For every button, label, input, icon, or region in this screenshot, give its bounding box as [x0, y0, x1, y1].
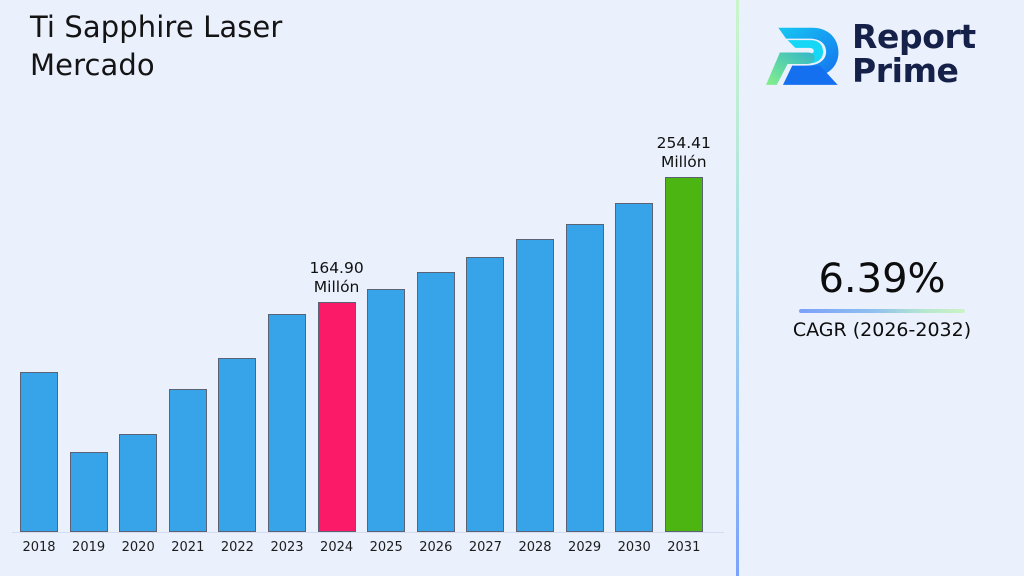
bar-group-2024[interactable]: 164.90 Millón [318, 302, 356, 532]
bar-2020[interactable] [119, 434, 157, 532]
bar-2031[interactable] [665, 177, 703, 532]
bar-2022[interactable] [218, 358, 256, 532]
screenshot-root: Ti Sapphire Laser Mercado 20182019202020… [0, 0, 1024, 576]
cagr-caption: CAGR (2026-2032) [740, 318, 1024, 342]
chart-panel: Ti Sapphire Laser Mercado 20182019202020… [0, 0, 737, 576]
bar-group-2027[interactable] [466, 257, 504, 532]
bar-2030[interactable] [615, 203, 653, 532]
x-axis-line [12, 532, 724, 533]
bar-group-2019[interactable] [70, 452, 108, 532]
side-panel: Report Prime 6.39% CAGR (2026-2032) [740, 0, 1024, 576]
bar-group-2030[interactable] [615, 203, 653, 532]
bar-group-2025[interactable] [367, 289, 405, 532]
bar-group-2031[interactable]: 254.41 Millón [665, 177, 703, 532]
bar-2026[interactable] [417, 272, 455, 532]
bar-2029[interactable] [566, 224, 604, 532]
bar-group-2029[interactable] [566, 224, 604, 532]
x-axis-tick-2031: 2031 [654, 540, 714, 556]
bar-2023[interactable] [268, 314, 306, 532]
bar-2028[interactable] [516, 239, 554, 532]
bar-chart-plot-area: 201820192020202120222023164.90 Millón202… [0, 0, 737, 576]
bar-2019[interactable] [70, 452, 108, 532]
bar-2018[interactable] [20, 372, 58, 532]
bar-group-2020[interactable] [119, 434, 157, 532]
report-prime-logo-mark [764, 17, 842, 91]
bar-value-label-2031: 254.41 Millón [628, 134, 740, 172]
logo-wordmark: Report Prime [852, 20, 976, 88]
bar-2021[interactable] [169, 389, 207, 532]
bar-2024[interactable] [318, 302, 356, 532]
bar-group-2018[interactable] [20, 372, 58, 532]
bar-2025[interactable] [367, 289, 405, 532]
bar-group-2022[interactable] [218, 358, 256, 532]
panel-divider [736, 0, 739, 576]
bar-2027[interactable] [466, 257, 504, 532]
bar-group-2023[interactable] [268, 314, 306, 532]
cagr-block: 6.39% CAGR (2026-2032) [740, 255, 1024, 342]
bar-group-2028[interactable] [516, 239, 554, 532]
bar-group-2026[interactable] [417, 272, 455, 532]
cagr-value: 6.39% [740, 255, 1024, 303]
bar-group-2021[interactable] [169, 389, 207, 532]
report-prime-logo: Report Prime [764, 12, 1009, 96]
cagr-divider-rule [799, 309, 965, 313]
